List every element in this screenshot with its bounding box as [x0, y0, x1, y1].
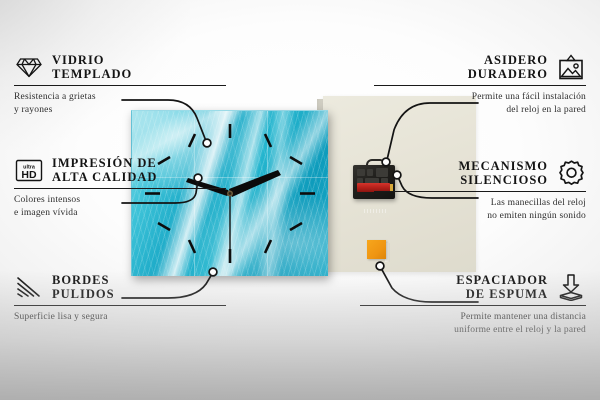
- feature-title-line1: ASIDERO: [484, 53, 548, 67]
- feature-heading: VIDRIO TEMPLADO: [14, 52, 226, 82]
- feature-divider: [374, 191, 586, 192]
- feature-divider: [14, 188, 226, 189]
- feature-subtitle-line2: del reloj en la pared: [374, 104, 586, 117]
- feature-title-line2: TEMPLADO: [52, 67, 132, 81]
- feature-subtitle-line1: Superficie lisa y segura: [14, 311, 226, 324]
- feature-title-line1: VIDRIO: [52, 53, 105, 67]
- feature-heading: ESPACIADOR DE ESPUMA: [360, 272, 586, 302]
- hanging-frame-icon: [556, 52, 586, 82]
- feature-title-line1: BORDES: [52, 273, 109, 287]
- feature-impresion-alta-calidad: ultra HD IMPRESIÓN DE ALTA CALIDAD Color…: [14, 155, 226, 220]
- feature-subtitle-line2: no emiten ningún sonido: [374, 210, 586, 223]
- ultra-hd-icon: ultra HD: [14, 155, 44, 185]
- feature-heading: ultra HD IMPRESIÓN DE ALTA CALIDAD: [14, 155, 226, 185]
- feature-subtitle-line2: e imagen vívida: [14, 207, 226, 220]
- feature-divider: [14, 85, 226, 86]
- gear-icon: [556, 158, 586, 188]
- feature-title-line1: MECANISMO: [458, 159, 548, 173]
- arrow-down-pad-icon: [556, 272, 586, 302]
- feature-bordes-pulidos: BORDES PULIDOS Superficie lisa y segura: [14, 272, 226, 324]
- feature-subtitle: Colores intensos e imagen vívida: [14, 194, 226, 220]
- feature-divider: [374, 85, 586, 86]
- feature-subtitle: Resistencia a grietas y rayones: [14, 91, 226, 117]
- feature-subtitle-line2: uniforme entre el reloj y la pared: [360, 324, 586, 337]
- feature-title-line2: PULIDOS: [52, 287, 115, 301]
- infographic-canvas: VIDRIO TEMPLADO Resistencia a grietas y …: [0, 0, 600, 400]
- feature-subtitle: Permite mantener una distancia uniforme …: [360, 311, 586, 337]
- feature-heading: ASIDERO DURADERO: [374, 52, 586, 82]
- feature-subtitle-line1: Las manecillas del reloj: [374, 197, 586, 210]
- feature-subtitle: Permite una fácil instalación del reloj …: [374, 91, 586, 117]
- feature-title-line1: ESPACIADOR: [456, 273, 548, 287]
- feature-subtitle-line2: y rayones: [14, 104, 226, 117]
- feature-asidero-duradero: ASIDERO DURADERO Permite una fácil insta…: [374, 52, 586, 117]
- feature-title-line2: ALTA CALIDAD: [52, 170, 157, 184]
- feature-subtitle-line1: Permite una fácil instalación: [374, 91, 586, 104]
- feature-subtitle-line1: Permite mantener una distancia: [360, 311, 586, 324]
- feature-heading: MECANISMO SILENCIOSO: [374, 158, 586, 188]
- feature-heading: BORDES PULIDOS: [14, 272, 226, 302]
- feature-divider: [14, 305, 226, 306]
- feature-mecanismo-silencioso: MECANISMO SILENCIOSO Las manecillas del …: [374, 158, 586, 223]
- feature-subtitle-line1: Resistencia a grietas: [14, 91, 226, 104]
- feature-subtitle: Superficie lisa y segura: [14, 311, 226, 324]
- diamond-icon: [14, 52, 44, 82]
- feature-espaciador-de-espuma: ESPACIADOR DE ESPUMA Permite mantener un…: [360, 272, 586, 337]
- feature-title-line2: SILENCIOSO: [460, 173, 548, 187]
- feature-title-line1: IMPRESIÓN DE: [52, 156, 157, 170]
- feature-title-line2: DE ESPUMA: [466, 287, 548, 301]
- feature-vidrio-templado: VIDRIO TEMPLADO Resistencia a grietas y …: [14, 52, 226, 117]
- polished-edges-icon: [14, 272, 44, 302]
- feature-subtitle-line1: Colores intensos: [14, 194, 226, 207]
- feature-title-line2: DURADERO: [468, 67, 548, 81]
- foam-spacer: [367, 240, 386, 259]
- svg-text:HD: HD: [21, 169, 37, 181]
- feature-divider: [360, 305, 586, 306]
- feature-subtitle: Las manecillas del reloj no emiten ningú…: [374, 197, 586, 223]
